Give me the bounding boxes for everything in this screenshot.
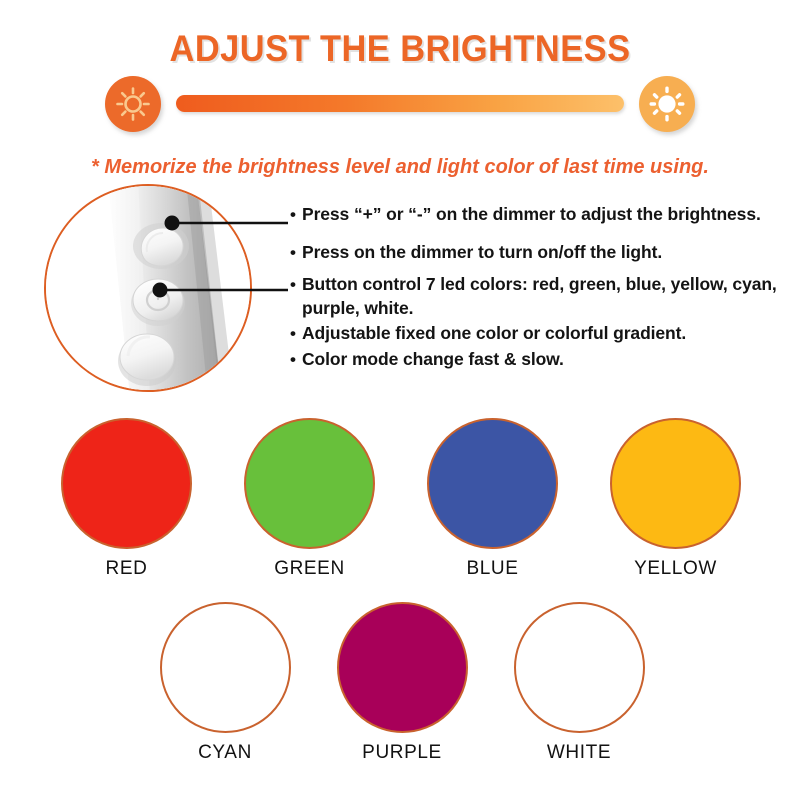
color-label: WHITE xyxy=(547,742,611,764)
bullet-marker: • xyxy=(290,348,302,372)
color-swatch-green[interactable]: GREEN xyxy=(242,418,377,580)
color-disc xyxy=(244,418,375,549)
color-swatch-blue[interactable]: BLUE xyxy=(425,418,560,580)
dimmer-remote-illustration xyxy=(46,186,250,390)
bullet-marker: • xyxy=(290,203,302,227)
bullet-marker: • xyxy=(290,273,302,320)
list-item-label: Adjustable fixed one color or colorful g… xyxy=(302,322,790,346)
brightness-slider-track[interactable] xyxy=(176,95,624,112)
color-swatch-white[interactable]: WHITE xyxy=(512,602,647,764)
list-item: • Color mode change fast & slow. xyxy=(290,348,790,372)
list-item-label: Button control 7 led colors: red, green,… xyxy=(302,273,790,320)
feature-list: • Press “+” or “-” on the dimmer to adju… xyxy=(290,192,790,373)
color-label: GREEN xyxy=(274,558,345,580)
bullet-marker: • xyxy=(290,241,302,265)
list-item: • Adjustable fixed one color or colorful… xyxy=(290,322,790,346)
bullet-marker: • xyxy=(290,322,302,346)
color-disc xyxy=(337,602,468,733)
list-item: • Button control 7 led colors: red, gree… xyxy=(290,273,790,320)
color-swatch-cyan[interactable]: CYAN xyxy=(158,602,293,764)
sun-icon-dim xyxy=(105,76,161,132)
color-label: YELLOW xyxy=(634,558,717,580)
header: ADJUST THE BRIGHTNESS xyxy=(0,28,800,123)
list-item-label: Press “+” or “-” on the dimmer to adjust… xyxy=(302,203,790,227)
color-swatch-row-1: RED GREEN BLUE YELLOW xyxy=(0,418,800,580)
color-disc xyxy=(514,602,645,733)
color-swatch-red[interactable]: RED xyxy=(59,418,194,580)
color-label: RED xyxy=(106,558,148,580)
list-item-label: Color mode change fast & slow. xyxy=(302,348,790,372)
page-title: ADJUST THE BRIGHTNESS xyxy=(28,28,772,70)
list-item: • Press on the dimmer to turn on/off the… xyxy=(290,241,790,265)
color-label: CYAN xyxy=(198,742,252,764)
color-disc xyxy=(61,418,192,549)
color-label: PURPLE xyxy=(362,742,442,764)
color-disc xyxy=(610,418,741,549)
infographic-page: ADJUST THE BRIGHTNESS xyxy=(0,0,800,800)
color-disc xyxy=(160,602,291,733)
color-swatch-row-2: CYAN PURPLE WHITE xyxy=(0,602,800,764)
color-swatches: RED GREEN BLUE YELLOW CYAN PURPLE xyxy=(0,418,800,764)
sun-icon-bright xyxy=(639,76,695,132)
list-item-label: Press on the dimmer to turn on/off the l… xyxy=(302,241,790,265)
product-photo xyxy=(44,184,252,392)
color-label: BLUE xyxy=(466,558,518,580)
color-disc xyxy=(427,418,558,549)
subtitle-note: * Memorize the brightness level and ligh… xyxy=(0,156,800,179)
brightness-slider-row xyxy=(0,76,800,132)
color-swatch-yellow[interactable]: YELLOW xyxy=(608,418,743,580)
color-swatch-purple[interactable]: PURPLE xyxy=(335,602,470,764)
list-item: • Press “+” or “-” on the dimmer to adju… xyxy=(290,203,790,227)
